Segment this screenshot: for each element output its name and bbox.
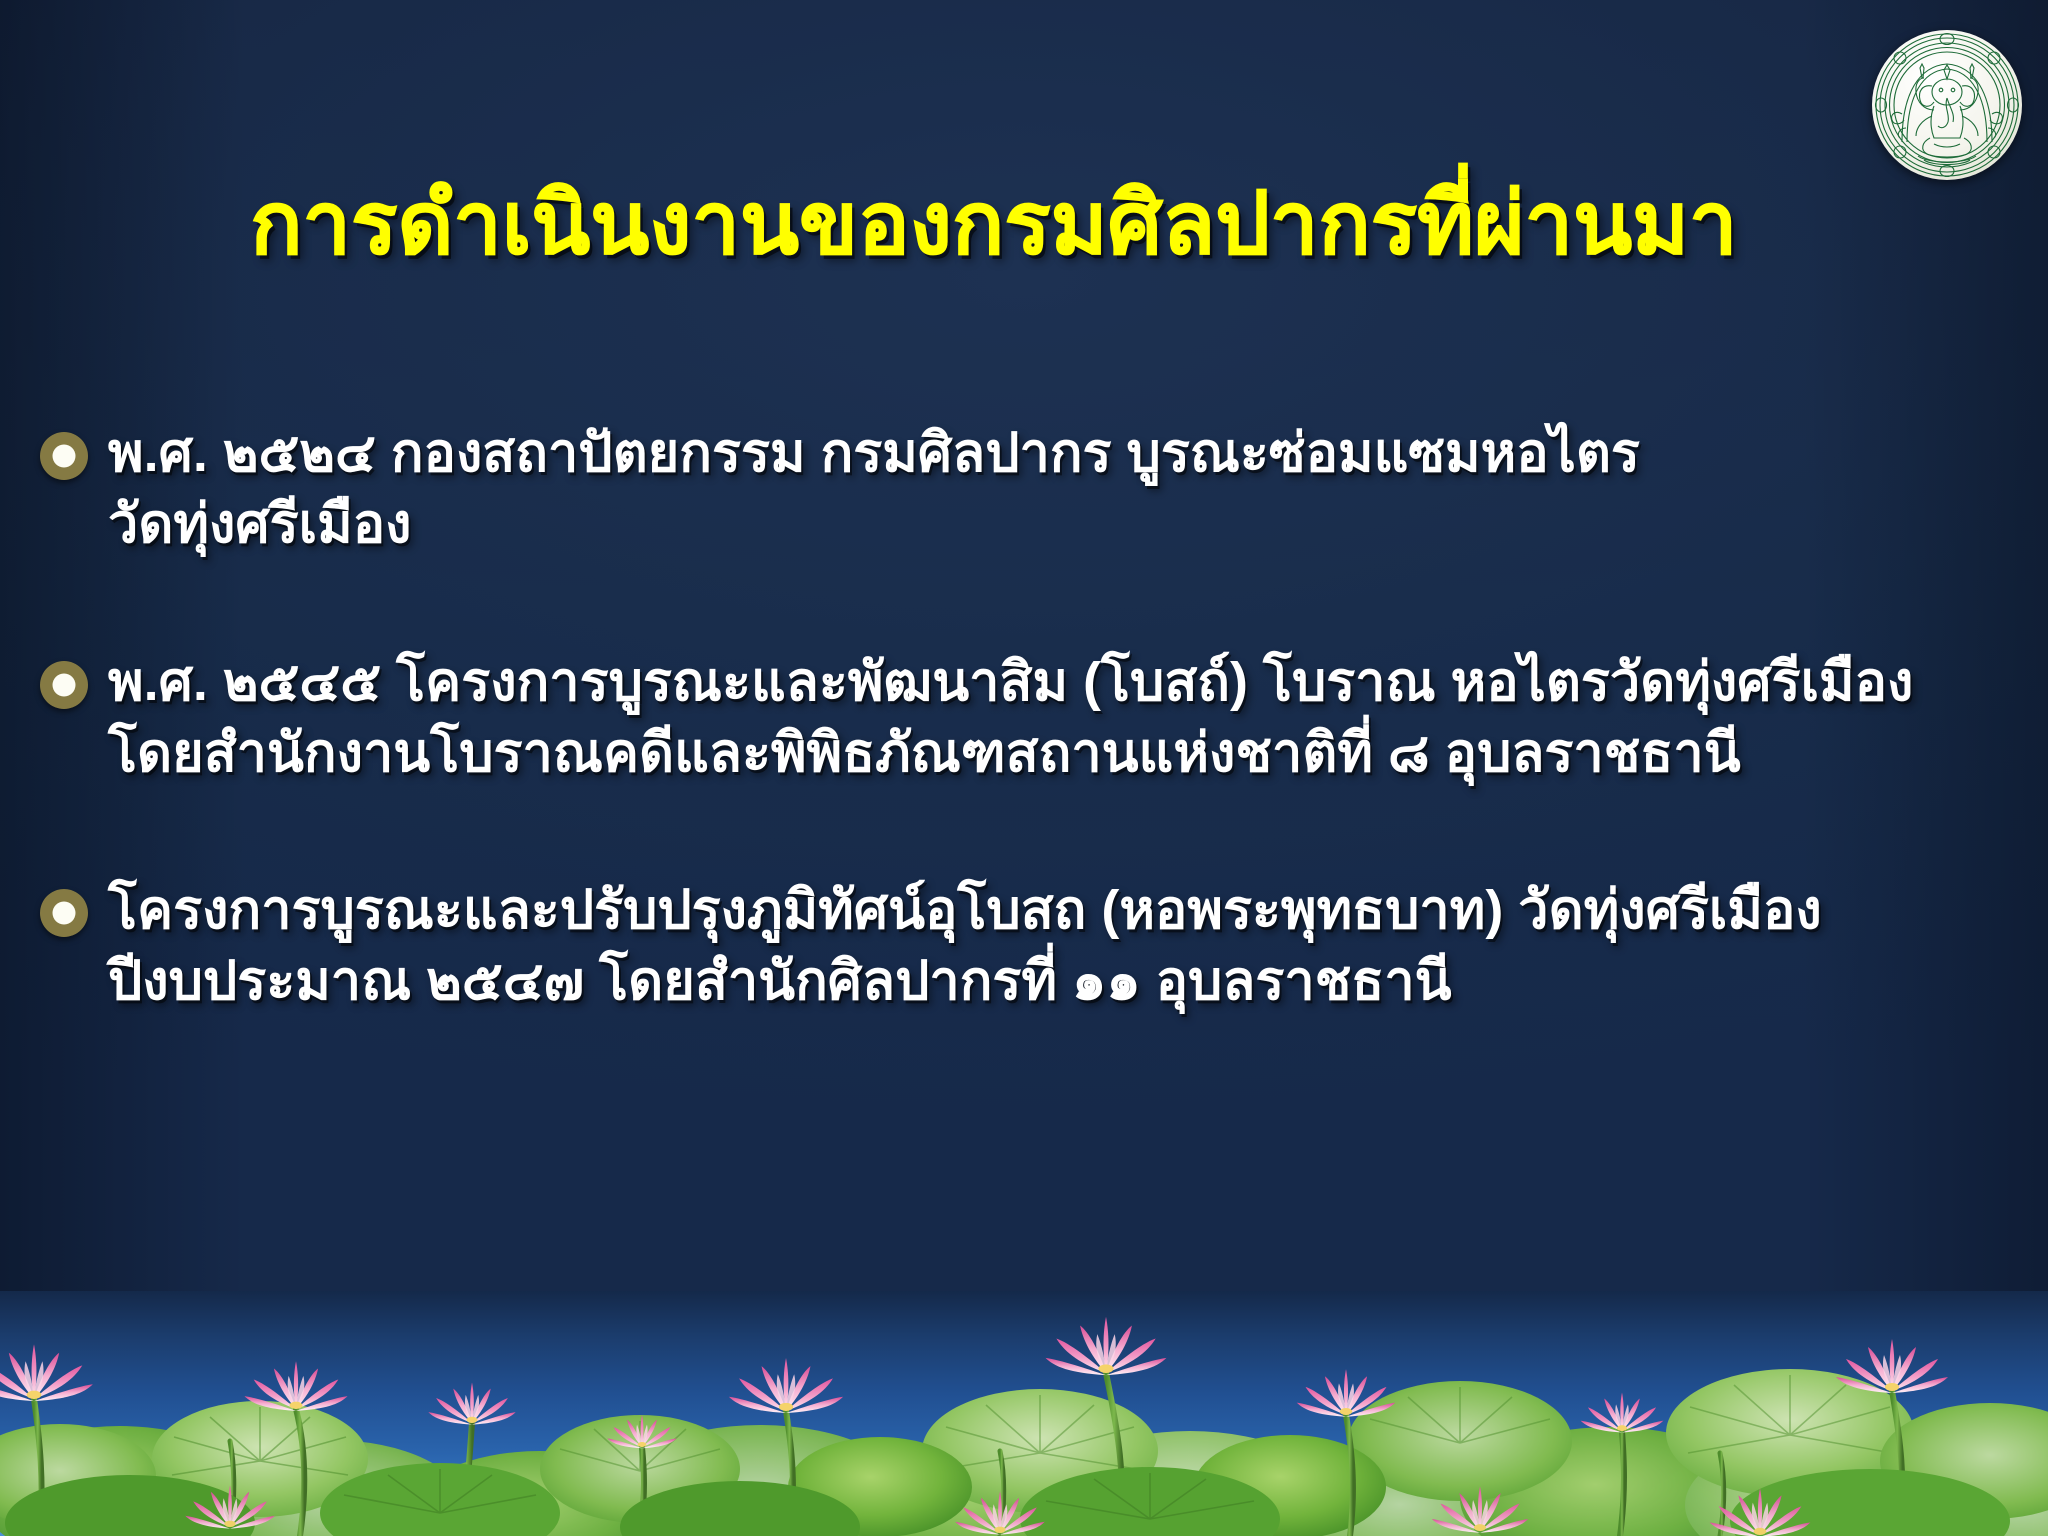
bullet-line: โครงการบูรณะและปรับปรุงภูมิทัศน์อุโบสถ (… [108,875,1822,946]
bullet-line: วัดทุ่งศรีเมือง [108,489,1640,560]
lotus-pond-band [0,1291,2048,1536]
slide-title: การดำเนินงานของกรมศิลปากรที่ผ่านมา [0,178,2048,271]
presentation-slide: การดำเนินงานของกรมศิลปากรที่ผ่านมา พ.ศ. … [0,0,2048,1536]
bullet-line: พ.ศ. ๒๕๒๔ กองสถาปัตยกรรม กรมศิลปากร บูรณ… [108,418,1640,489]
bullet-list: พ.ศ. ๒๕๒๔ กองสถาปัตยกรรม กรมศิลปากร บูรณ… [40,418,2030,1018]
list-item: พ.ศ. ๒๕๒๔ กองสถาปัตยกรรม กรมศิลปากร บูรณ… [40,418,2030,561]
ring-bullet-icon [40,661,88,709]
list-item: โครงการบูรณะและปรับปรุงภูมิทัศน์อุโบสถ (… [40,875,2030,1018]
ring-bullet-icon [40,432,88,480]
bullet-text-1: พ.ศ. ๒๕๒๔ กองสถาปัตยกรรม กรมศิลปากร บูรณ… [108,418,1640,561]
bullet-text-3: โครงการบูรณะและปรับปรุงภูมิทัศน์อุโบสถ (… [108,875,1822,1018]
bullet-line: พ.ศ. ๒๕๔๕ โครงการบูรณะและพัฒนาสิม (โบสถ์… [108,647,1913,718]
bullet-line: ปีงบประมาณ ๒๕๔๗ โดยสำนักศิลปากรที่ ๑๑ อุ… [108,946,1822,1017]
ganesha-emblem [1872,30,2022,180]
list-item: พ.ศ. ๒๕๔๕ โครงการบูรณะและพัฒนาสิม (โบสถ์… [40,647,2030,790]
ring-bullet-icon [40,889,88,937]
bullet-text-2: พ.ศ. ๒๕๔๕ โครงการบูรณะและพัฒนาสิม (โบสถ์… [108,647,1913,790]
bullet-line: โดยสำนักงานโบราณคดีและพิพิธภัณฑสถานแห่งช… [108,718,1913,789]
